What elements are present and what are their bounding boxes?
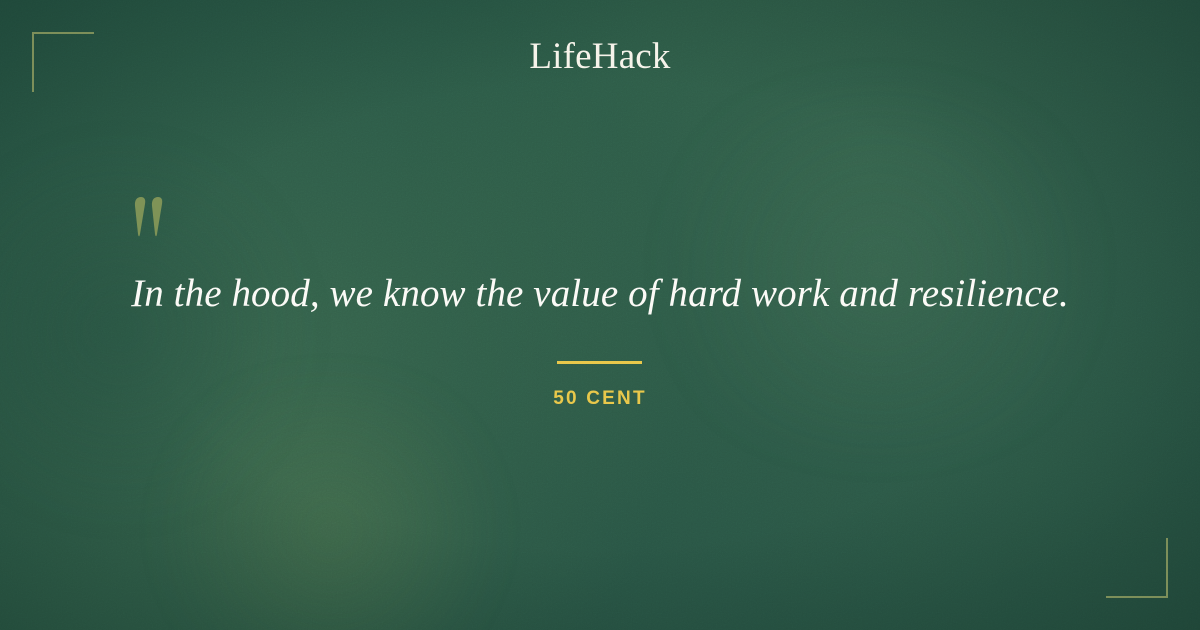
- quote-text: In the hood, we know the value of hard w…: [60, 268, 1140, 320]
- corner-bracket-bottom-right-icon: [1106, 538, 1168, 598]
- quote-author: 50 CENT: [0, 388, 1200, 410]
- quote-card: LifeHack In the hood, we know the value …: [0, 0, 1200, 630]
- double-quote-icon: [131, 196, 175, 242]
- corner-bracket-top-left-horizontal: [32, 32, 94, 34]
- divider: [557, 361, 642, 364]
- corner-bracket-bottom-right-vertical: [1166, 538, 1168, 598]
- corner-bracket-bottom-right-horizontal: [1106, 596, 1168, 598]
- brand-logo: LifeHack: [0, 38, 1200, 75]
